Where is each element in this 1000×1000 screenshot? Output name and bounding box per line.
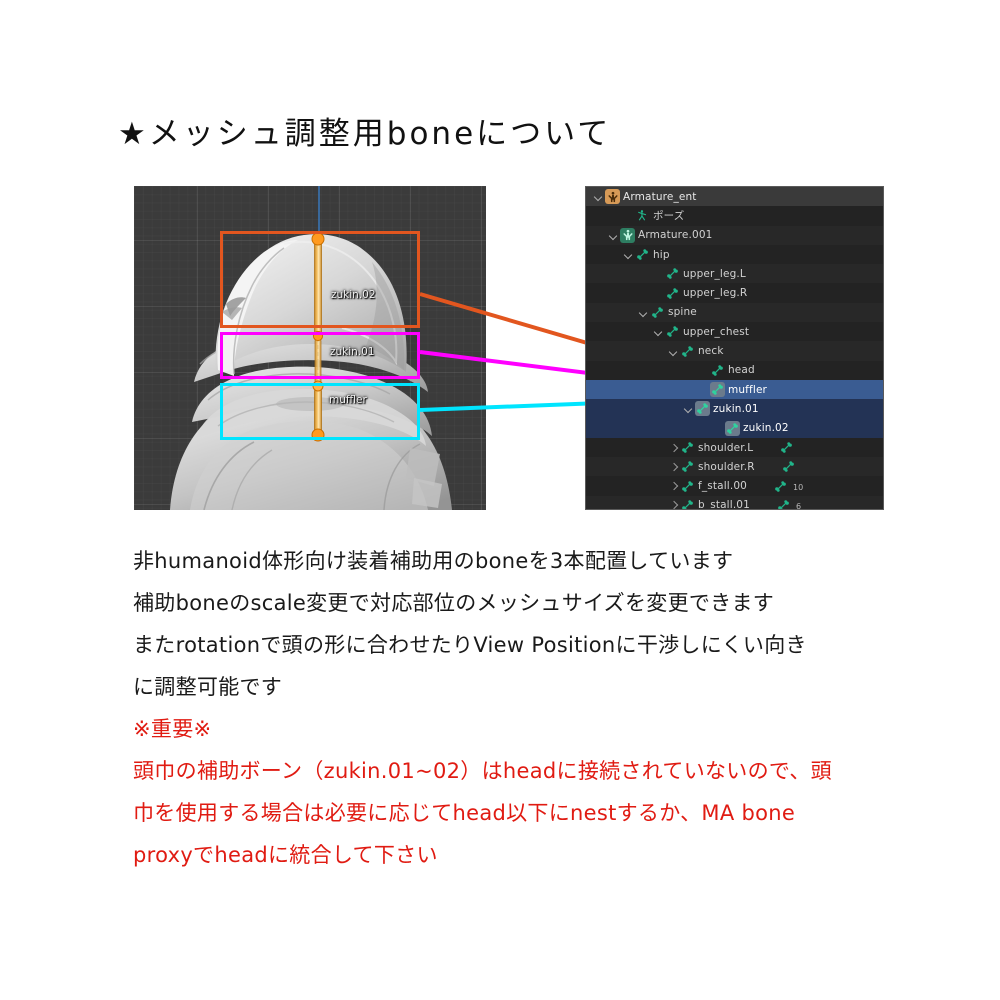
- outliner-row-label: shoulder.L: [698, 442, 753, 454]
- bone-icon: [680, 479, 695, 494]
- outliner-row-count: 6: [796, 502, 801, 510]
- description-line: 巾を使用する場合は必要に応じてhead以下にnestするか、MA bone: [133, 792, 923, 834]
- outliner-row-upper-leg-r[interactable]: upper_leg.R: [586, 283, 883, 302]
- bone-icon: [680, 440, 695, 455]
- chevron-down-icon[interactable]: [667, 345, 680, 358]
- bone-icon: [773, 479, 788, 494]
- chevron-down-icon[interactable]: [592, 190, 605, 203]
- description-line: またrotationで頭の形に合わせたりView Positionに干渉しにくい…: [133, 624, 923, 666]
- highlight-box-muffler: [220, 383, 420, 440]
- highlight-box-zukin02: [220, 231, 420, 328]
- outliner-row-zukin-02[interactable]: zukin.02: [586, 419, 883, 438]
- highlight-box-zukin01: [220, 332, 420, 379]
- bone-icon: [680, 459, 695, 474]
- outliner-row-shoulder-l[interactable]: shoulder.L: [586, 438, 883, 457]
- chevron-right-icon[interactable]: [667, 460, 680, 473]
- bone-icon: [680, 344, 695, 359]
- outliner-row-armature-ent[interactable]: Armature_ent: [586, 187, 883, 206]
- outliner-row-label: neck: [698, 345, 724, 357]
- bone-icon: [710, 363, 725, 378]
- outliner-row-count: 10: [793, 483, 803, 492]
- outliner-row-label: Armature.001: [638, 229, 712, 241]
- bone-icon: [665, 324, 680, 339]
- outliner-row-muffler[interactable]: muffler: [586, 380, 883, 399]
- chevron-right-icon[interactable]: [667, 499, 680, 510]
- chevron-down-icon[interactable]: [652, 325, 665, 338]
- outliner-row-label: upper_leg.L: [683, 268, 746, 280]
- chevron-spacer: [652, 287, 665, 300]
- bone-icon: [650, 305, 665, 320]
- outliner-row-shoulder-r[interactable]: shoulder.R: [586, 457, 883, 476]
- description-line: proxyでheadに統合して下さい: [133, 834, 923, 876]
- chevron-down-icon[interactable]: [607, 229, 620, 242]
- outliner-row-label: muffler: [728, 384, 767, 396]
- chevron-down-icon[interactable]: [637, 306, 650, 319]
- outliner-row-spine[interactable]: spine: [586, 303, 883, 322]
- outliner-row-label: Armature_ent: [623, 191, 697, 203]
- outliner-row-hip[interactable]: hip: [586, 245, 883, 264]
- page-title: ★メッシュ調整用boneについて: [118, 108, 611, 153]
- bone-icon: [776, 498, 791, 510]
- chevron-down-icon[interactable]: [622, 248, 635, 261]
- outliner-row-armature-001[interactable]: Armature.001: [586, 226, 883, 245]
- description-line: 頭巾の補助ボーン（zukin.01~02）はheadに接続されていないので、頭: [133, 750, 923, 792]
- bone-icon: [710, 382, 725, 397]
- chevron-spacer: [697, 383, 710, 396]
- bone-icon: [695, 401, 710, 416]
- bone-icon: [635, 247, 650, 262]
- outliner-row-label: b_stall.01: [698, 499, 750, 510]
- bone-icon: [665, 286, 680, 301]
- pose-icon: [635, 208, 650, 223]
- chevron-spacer: [622, 209, 635, 222]
- bone-icon: [781, 459, 796, 474]
- description-line: 補助boneのscale変更で対応部位のメッシュサイズを変更できます: [133, 582, 923, 624]
- outliner-row--[interactable]: ポーズ: [586, 206, 883, 225]
- outliner-row-upper-leg-l[interactable]: upper_leg.L: [586, 264, 883, 283]
- bone-icon: [680, 498, 695, 510]
- description-line: 非humanoid体形向け装着補助用のboneを3本配置しています: [133, 540, 923, 582]
- blender-outliner-panel[interactable]: Armature_entポーズArmature.001hipupper_leg.…: [585, 186, 884, 510]
- outliner-row-label: shoulder.R: [698, 461, 755, 473]
- chevron-right-icon[interactable]: [667, 480, 680, 493]
- outliner-row-label: ポーズ: [653, 208, 684, 223]
- chevron-spacer: [652, 267, 665, 280]
- chevron-spacer: [697, 364, 710, 377]
- outliner-row-label: zukin.02: [743, 422, 789, 434]
- outliner-row-b-stall-01[interactable]: b_stall.016: [586, 496, 883, 510]
- chevron-right-icon[interactable]: [667, 441, 680, 454]
- outliner-row-label: head: [728, 364, 755, 376]
- outliner-row-label: upper_chest: [683, 326, 749, 338]
- chevron-down-icon[interactable]: [682, 402, 695, 415]
- outliner-row-neck[interactable]: neck: [586, 341, 883, 360]
- description-line: ※重要※: [133, 708, 923, 750]
- bone-icon: [779, 440, 794, 455]
- outliner-row-label: spine: [668, 306, 697, 318]
- page-root: ★メッシュ調整用boneについて: [0, 0, 1000, 1000]
- chevron-spacer: [712, 422, 725, 435]
- outliner-row-label: zukin.01: [713, 403, 759, 415]
- outliner-row-list: Armature_entポーズArmature.001hipupper_leg.…: [586, 187, 883, 510]
- figure-block: zukin.02 zukin.01 muffler Armature_entポー…: [134, 186, 884, 510]
- outliner-row-head[interactable]: head: [586, 361, 883, 380]
- armature-object-icon: [605, 189, 620, 204]
- outliner-row-zukin-01[interactable]: zukin.01: [586, 399, 883, 418]
- description-text-block: 非humanoid体形向け装着補助用のboneを3本配置しています補助boneの…: [133, 540, 923, 876]
- outliner-row-f-stall-00[interactable]: f_stall.0010: [586, 476, 883, 495]
- description-line: に調整可能です: [133, 666, 923, 708]
- bone-icon: [725, 421, 740, 436]
- outliner-row-label: hip: [653, 249, 670, 261]
- outliner-row-label: f_stall.00: [698, 480, 747, 492]
- outliner-row-upper-chest[interactable]: upper_chest: [586, 322, 883, 341]
- bone-icon: [665, 266, 680, 281]
- blender-3d-viewport[interactable]: zukin.02 zukin.01 muffler: [134, 186, 486, 510]
- outliner-row-label: upper_leg.R: [683, 287, 747, 299]
- armature-data-icon: [620, 228, 635, 243]
